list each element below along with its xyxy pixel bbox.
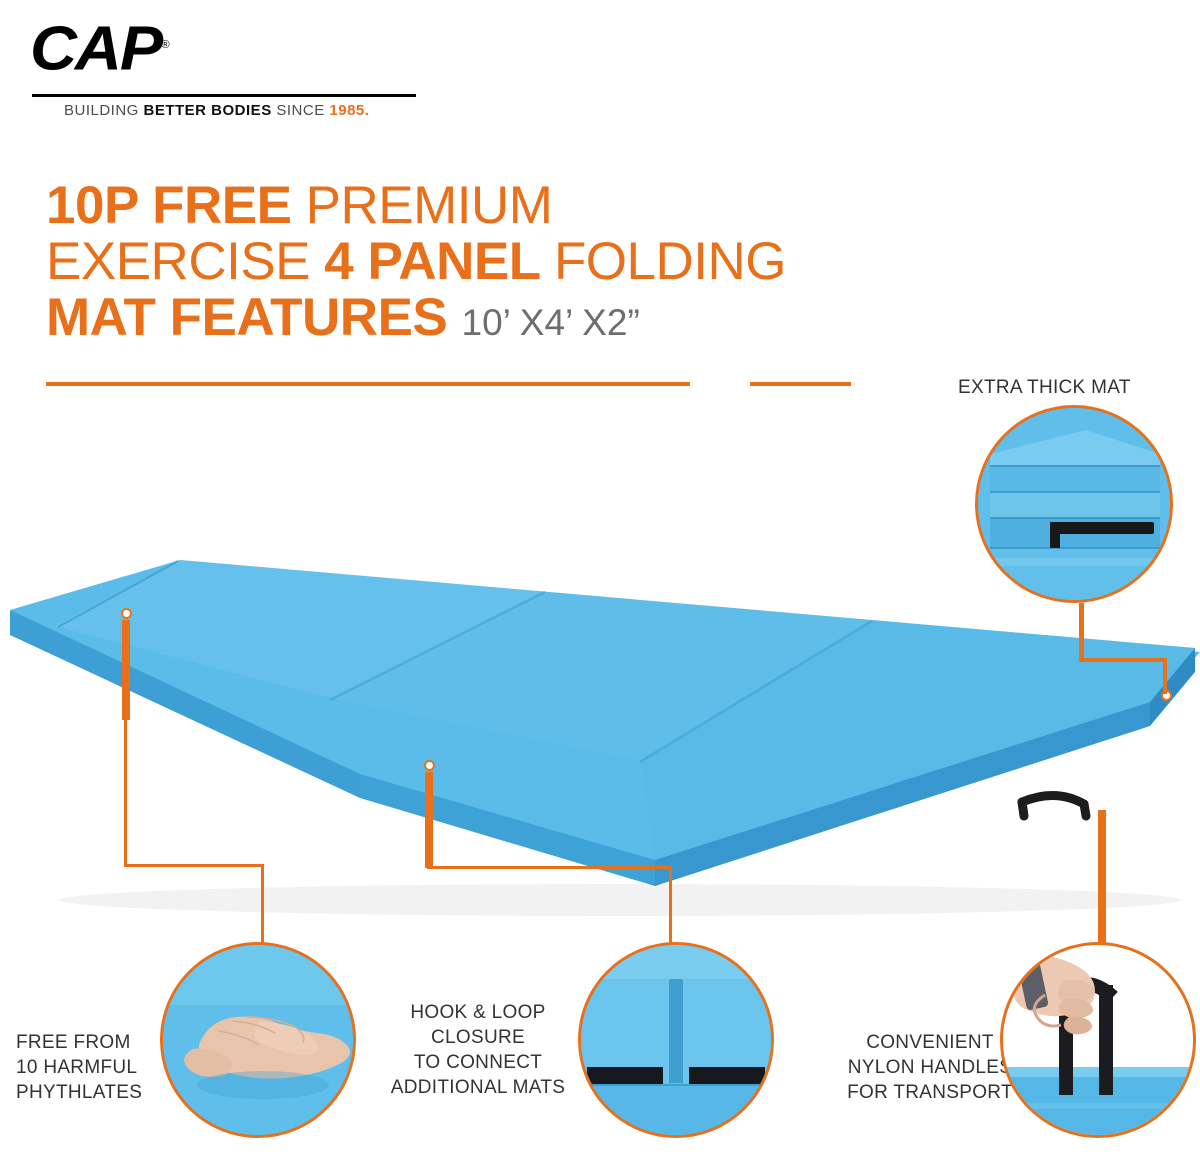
- connector-free-from-drop: [261, 864, 264, 944]
- tagline-part-1: BUILDING: [64, 102, 144, 119]
- tagline-part-3: SINCE: [272, 102, 330, 119]
- callout-label-extra-thick: EXTRA THICK MAT: [958, 375, 1188, 400]
- tagline-part-4: 1985.: [329, 102, 369, 119]
- connector-dot-free-from: [121, 608, 132, 619]
- connector-extra-thick-elbow-h: [1079, 658, 1167, 662]
- headline-block: 10P FREE PREMIUM EXERCISE 4 PANEL FOLDIN…: [46, 178, 946, 351]
- callout-label-hook-loop: HOOK & LOOP CLOSURE TO CONNECT ADDITIONA…: [378, 1000, 578, 1100]
- logo-divider: [32, 94, 416, 97]
- callout-photo-nylon-handle: [1000, 942, 1196, 1138]
- hand-pressing-mat-icon: [163, 945, 353, 1135]
- brand-logo: CAP® BUILDING BETTER BODIES SINCE 1985.: [30, 14, 430, 81]
- headline-line-1-bold: 10P FREE: [46, 176, 306, 235]
- brand-wordmark-text: CAP: [30, 15, 161, 84]
- connector-free-from-vertical-thin: [124, 718, 127, 866]
- connector-free-from-vertical: [122, 620, 130, 720]
- headline-line-2: EXERCISE 4 PANEL FOLDING: [46, 234, 946, 290]
- callout-label-handles: CONVENIENT NYLON HANDLES FOR TRANSPORT: [840, 1030, 1020, 1105]
- connector-free-from-horizontal: [124, 864, 264, 867]
- brand-wordmark: CAP®: [30, 14, 170, 81]
- headline-underline-gap: [690, 382, 750, 386]
- callout-photo-hand-on-mat: [160, 942, 356, 1138]
- connector-hook-loop-drop: [669, 866, 672, 946]
- tagline-part-2: BETTER BODIES: [144, 102, 272, 119]
- registered-mark: ®: [161, 39, 170, 51]
- headline-line-2-bold: 4 PANEL: [324, 232, 554, 291]
- headline-line-2-light: EXERCISE: [46, 232, 324, 291]
- callout-photo-hook-and-loop: [578, 942, 774, 1138]
- headline-line-3-bold: MAT FEATURES: [46, 288, 462, 347]
- connector-hook-loop-vertical: [425, 772, 433, 868]
- folded-mat-stack-icon: [978, 408, 1170, 600]
- headline-line-3: MAT FEATURES 10’ X4’ X2”: [46, 290, 946, 351]
- connector-handles-vertical: [1098, 810, 1106, 944]
- brand-tagline: BUILDING BETTER BODIES SINCE 1985.: [64, 102, 369, 119]
- headline-line-1: 10P FREE PREMIUM: [46, 178, 946, 234]
- callout-photo-extra-thick: [975, 405, 1173, 603]
- connector-extra-thick-elbow-v: [1163, 658, 1167, 694]
- hook-and-loop-closure-icon: [581, 945, 771, 1135]
- headline-line-2-tail: FOLDING: [554, 232, 786, 291]
- headline-line-1-light: PREMIUM: [306, 176, 553, 235]
- connector-hook-loop-horizontal: [427, 866, 672, 869]
- headline-dimensions: 10’ X4’ X2”: [462, 302, 640, 343]
- callout-label-free-from: FREE FROM 10 HARMFUL PHYTHLATES: [16, 1030, 156, 1105]
- connector-dot-hook-loop: [424, 760, 435, 771]
- connector-extra-thick-vertical: [1079, 603, 1084, 661]
- hand-carrying-nylon-handle-icon: [1003, 945, 1193, 1135]
